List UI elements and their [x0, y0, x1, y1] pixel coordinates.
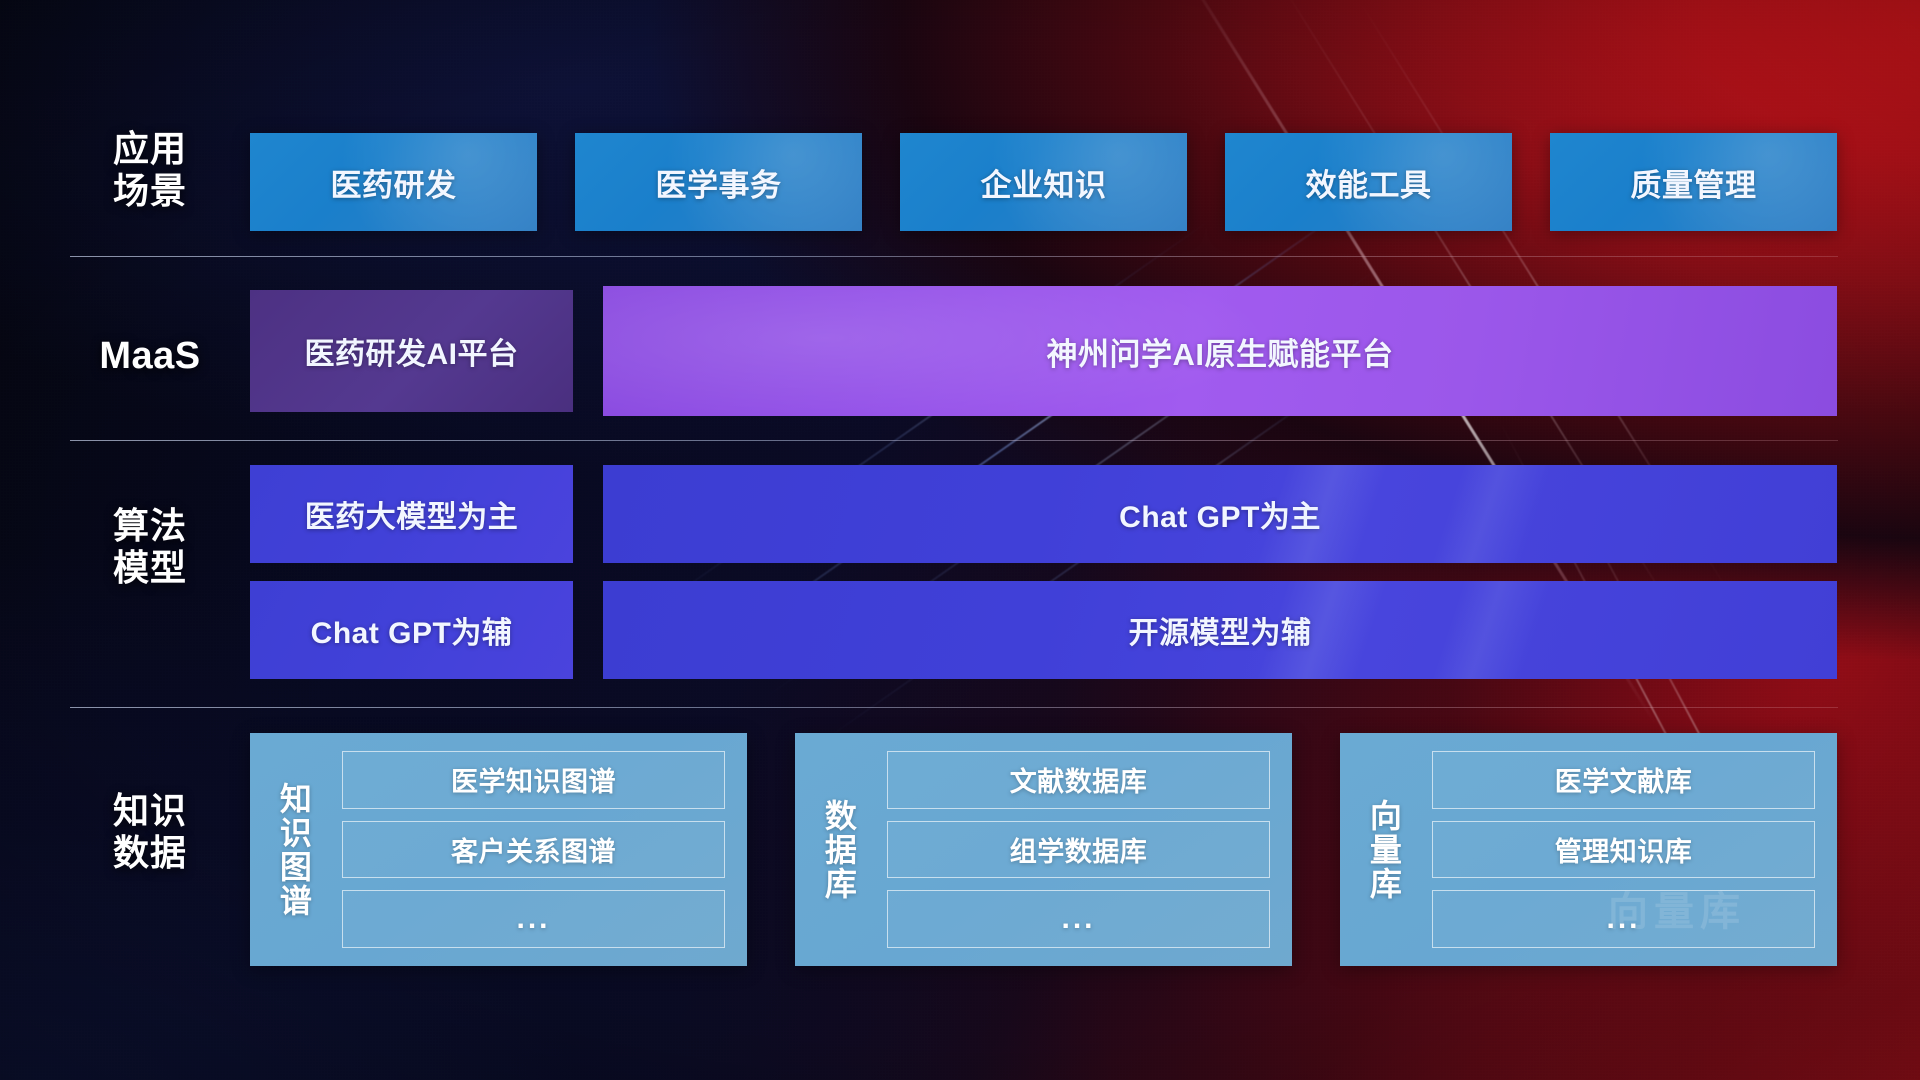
slide-canvas: 应用 场景 医药研发 医学事务 企业知识 效能工具 质量管理 MaaS 医药研发…	[0, 0, 1920, 1080]
row-label-line: 模型	[70, 547, 230, 589]
cluster-item[interactable]: 文献数据库	[887, 751, 1270, 809]
row-divider-3	[70, 707, 1838, 708]
algo-card-opensource-secondary[interactable]: 开源模型为辅	[603, 581, 1837, 679]
knowledge-cluster-knowledge-graph[interactable]: 知识图谱 医学知识图谱 客户关系图谱 ...	[250, 733, 747, 966]
algo-card-medicine-llm-primary[interactable]: 医药大模型为主	[250, 465, 573, 563]
row-label-line: 应用	[70, 128, 230, 170]
app-card-medical-affairs[interactable]: 医学事务	[575, 133, 862, 231]
cluster-items-vector-store: 医学文献库 管理知识库 ...	[1426, 733, 1837, 966]
cluster-items-database: 文献数据库 组学数据库 ...	[881, 733, 1292, 966]
maas-card-medicine-ai-platform[interactable]: 医药研发AI平台	[250, 290, 573, 412]
cluster-item[interactable]: 客户关系图谱	[342, 821, 725, 879]
row-label-line: 数据	[70, 832, 230, 874]
row-label-maas: MaaS	[70, 334, 230, 379]
app-card-quality-management[interactable]: 质量管理	[1550, 133, 1837, 231]
row-label-line: MaaS	[70, 334, 230, 379]
cluster-item[interactable]: 医学知识图谱	[342, 751, 725, 809]
cluster-item-more[interactable]: ...	[887, 890, 1270, 948]
algo-card-chatgpt-secondary[interactable]: Chat GPT为辅	[250, 581, 573, 679]
cluster-label-knowledge-graph: 知识图谱	[250, 733, 336, 966]
knowledge-cluster-database[interactable]: 数据库 文献数据库 组学数据库 ...	[795, 733, 1292, 966]
row-label-application-scenario: 应用 场景	[70, 128, 230, 213]
cluster-item[interactable]: 组学数据库	[887, 821, 1270, 879]
cluster-item-more[interactable]: ...	[1432, 890, 1815, 948]
row-divider-1	[70, 256, 1838, 257]
cluster-item-more[interactable]: ...	[342, 890, 725, 948]
cluster-label-database: 数据库	[795, 733, 881, 966]
cluster-label-vector-store: 向量库	[1340, 733, 1426, 966]
architecture-diagram: 应用 场景 医药研发 医学事务 企业知识 效能工具 质量管理 MaaS 医药研发…	[0, 0, 1920, 1080]
row-label-knowledge-data: 知识 数据	[70, 790, 230, 875]
app-card-medicine-rd[interactable]: 医药研发	[250, 133, 537, 231]
row-divider-2	[70, 440, 1838, 441]
cluster-items-knowledge-graph: 医学知识图谱 客户关系图谱 ...	[336, 733, 747, 966]
row-label-line: 场景	[70, 170, 230, 212]
cluster-item[interactable]: 医学文献库	[1432, 751, 1815, 809]
cluster-item[interactable]: 管理知识库	[1432, 821, 1815, 879]
maas-card-shenzhou-wenxue-platform[interactable]: 神州问学AI原生赋能平台	[603, 286, 1837, 416]
row-label-line: 知识	[70, 790, 230, 832]
algo-card-chatgpt-primary[interactable]: Chat GPT为主	[603, 465, 1837, 563]
app-card-enterprise-knowledge[interactable]: 企业知识	[900, 133, 1187, 231]
row-label-algorithm-model: 算法 模型	[70, 505, 230, 590]
knowledge-cluster-vector-store[interactable]: 向量库 医学文献库 管理知识库 ... 向量库	[1340, 733, 1837, 966]
app-card-efficiency-tools[interactable]: 效能工具	[1225, 133, 1512, 231]
row-label-line: 算法	[70, 505, 230, 547]
